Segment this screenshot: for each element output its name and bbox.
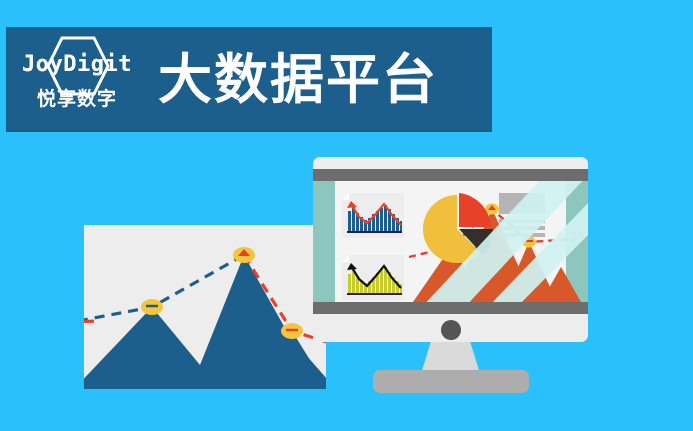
pie-slice-red [459,193,491,227]
placeholder-text-line [499,233,545,237]
logo-wordmark: JoyDigit [22,54,132,76]
placeholder-text-line [499,226,545,230]
monitor-bottom-bezel [313,302,588,314]
monitor-top-bezel [313,169,588,181]
monitor-stand-neck [422,342,480,372]
brand-logo: JoyDigit 悦享数字 [18,32,136,128]
page-title: 大数据平台 [158,53,438,107]
monitor-stand-base [373,370,529,393]
mountain-line-chart-panel [84,225,326,389]
chart-baseline [347,231,402,233]
pie-chart[interactable] [419,191,495,267]
left-panel-chart [84,225,326,389]
trend-line-dashed-blue [84,255,244,321]
desktop-monitor [313,157,588,342]
bar-chart-thumbnail-yellow[interactable] [342,255,404,300]
power-button-icon[interactable] [441,320,461,340]
text-block-placeholder [499,193,545,237]
monitor-screen [313,181,588,302]
bar-chart-thumbnail-blue[interactable] [342,193,404,238]
logo-subtitle: 悦享数字 [37,90,117,109]
placeholder-image-block [499,193,545,214]
chart-baseline [347,293,402,295]
card-fold-triangle [342,255,349,262]
card-fold-triangle [342,193,349,200]
poster-canvas: JoyDigit 悦享数字 大数据平台 [0,0,693,431]
header-banner: JoyDigit 悦享数字 大数据平台 [6,27,492,132]
placeholder-text-line [499,219,545,223]
